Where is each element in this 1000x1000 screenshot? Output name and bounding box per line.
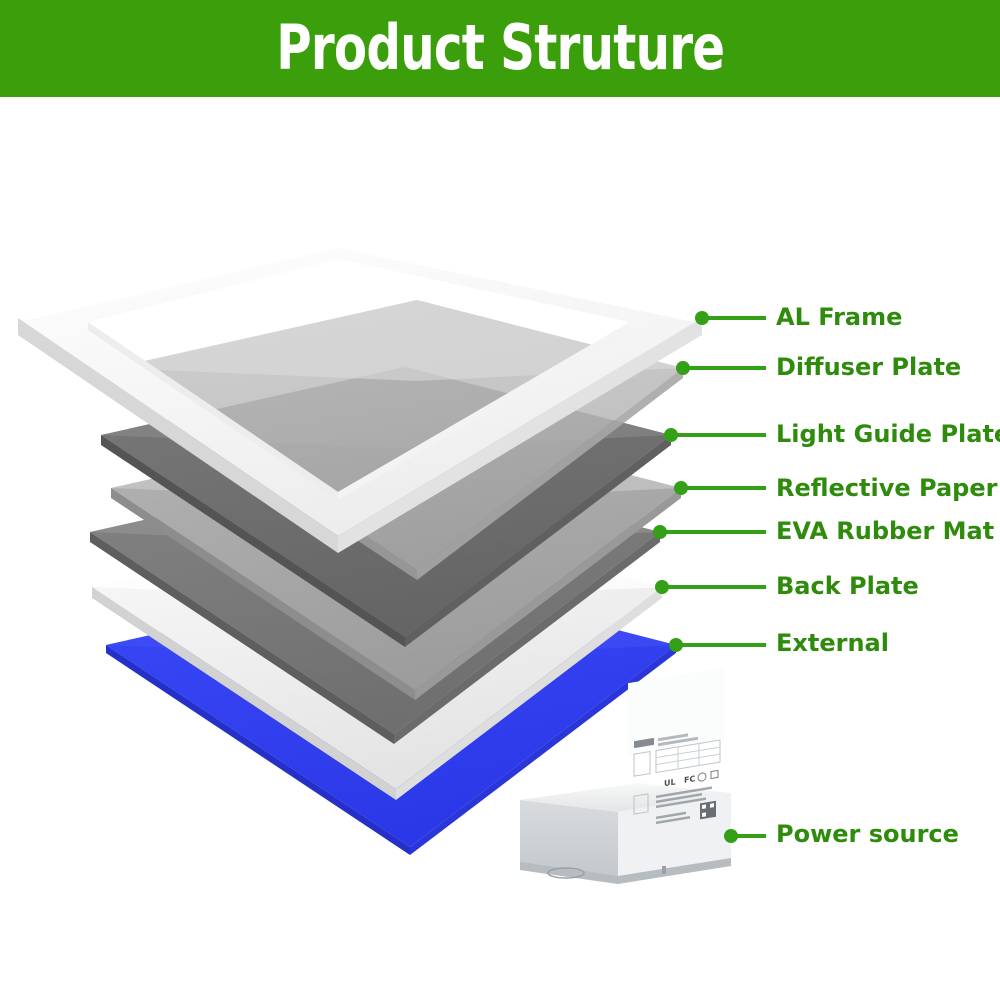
callout-label-external: External: [776, 631, 889, 655]
callout-label-back-plate: Back Plate: [776, 574, 919, 598]
callout-label-power-source: Power source: [776, 822, 959, 846]
callout-eva-rubber-mat: [653, 525, 766, 539]
callout-label-diffuser-plate: Diffuser Plate: [776, 355, 961, 379]
callout-leaders: [653, 311, 766, 843]
callout-label-eva-rubber-mat: EVA Rubber Mat: [776, 519, 994, 543]
callout-power-source: [724, 829, 766, 843]
callout-al-frame: [695, 311, 766, 325]
product-structure-diagram: Product Struture: [0, 0, 1000, 1000]
callout-diffuser-plate: [676, 361, 766, 375]
callout-label-al-frame: AL Frame: [776, 305, 902, 329]
callout-reflective-paper: [674, 481, 766, 495]
svg-text:UL: UL: [664, 777, 676, 788]
callout-external: [669, 638, 766, 652]
callout-back-plate: [655, 580, 766, 594]
callout-light-guide-plate: [664, 428, 766, 442]
callout-label-light-guide-plate: Light Guide Plate: [776, 422, 1000, 446]
callout-label-reflective-paper: Reflective Paper: [776, 476, 997, 500]
svg-text:FC: FC: [684, 774, 695, 785]
